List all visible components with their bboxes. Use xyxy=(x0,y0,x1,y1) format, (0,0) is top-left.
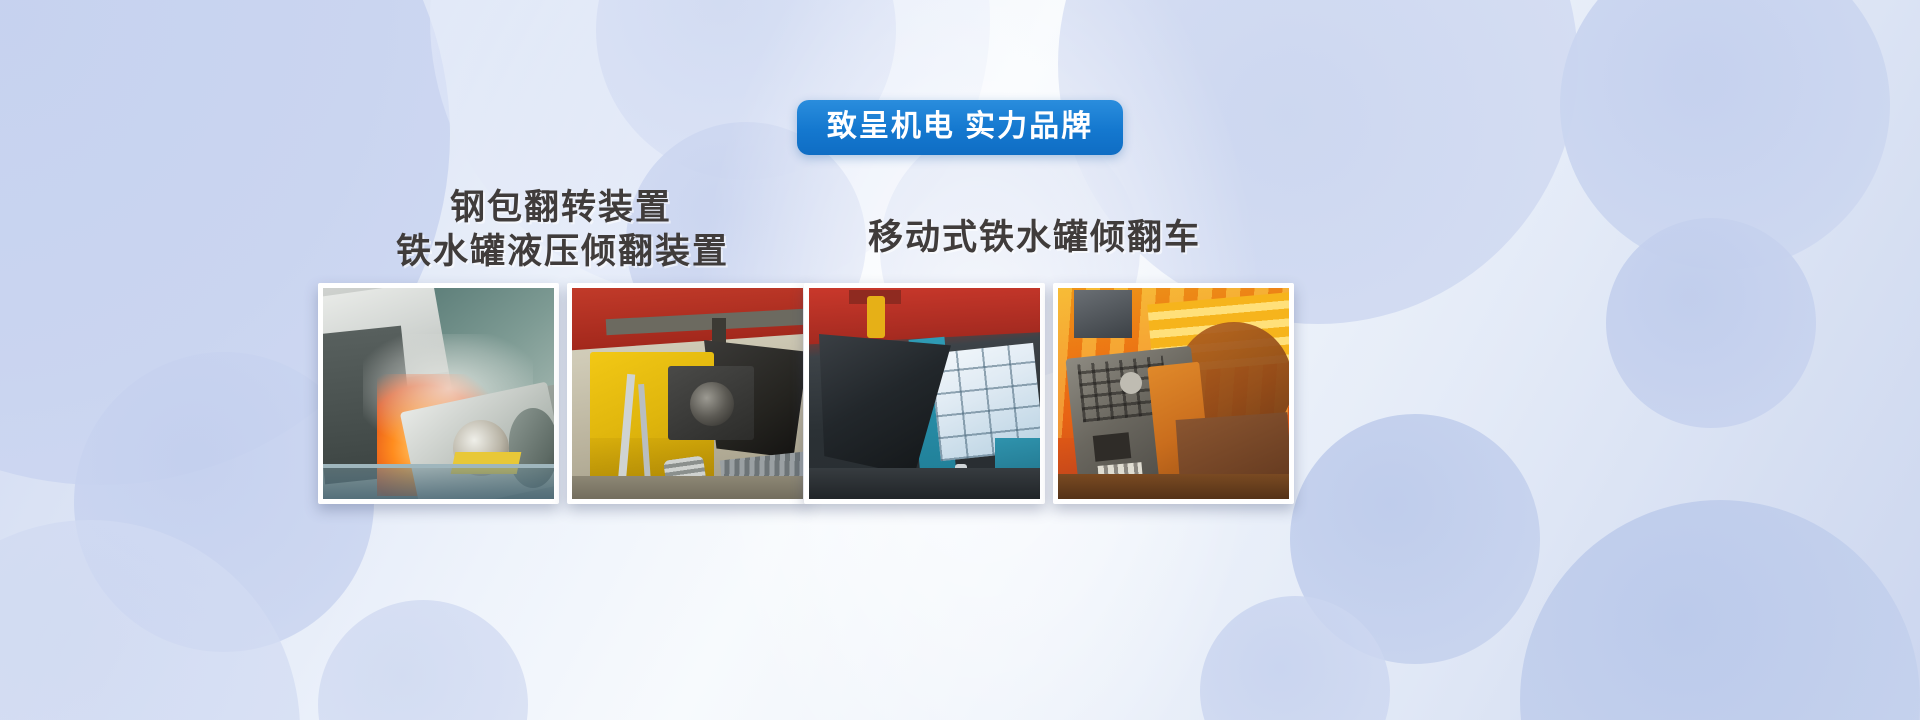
photo-content xyxy=(1058,288,1289,499)
photo-ladle-tilting-furnace[interactable] xyxy=(318,283,559,504)
photo-molten-iron-tilting-car[interactable] xyxy=(1053,283,1294,504)
product-heading-left: 钢包翻转装置 铁水罐液压倾翻装置 xyxy=(396,186,726,274)
photo-group-right xyxy=(804,283,1294,504)
product-heading-left-line1: 钢包翻转装置 xyxy=(450,188,672,227)
shape-railing xyxy=(323,468,554,499)
photo-group-left xyxy=(318,283,808,504)
banner-stage: 致呈机电 实力品牌 钢包翻转装置 铁水罐液压倾翻装置 移动式铁水罐倾翻车 xyxy=(0,0,1920,720)
decorative-circle xyxy=(1200,596,1390,720)
product-heading-left-line2: 铁水罐液压倾翻装置 xyxy=(396,230,726,274)
shape-dark-panel xyxy=(1074,290,1132,338)
photo-gallery xyxy=(0,283,1920,498)
photo-yellow-hydraulic-tilter[interactable] xyxy=(567,283,808,504)
shape-hook xyxy=(867,296,885,338)
brand-badge: 致呈机电 实力品牌 xyxy=(797,100,1123,155)
decorative-circle xyxy=(318,600,528,720)
photo-content xyxy=(572,288,803,499)
photo-content xyxy=(323,288,554,499)
decorative-circle xyxy=(1058,0,1578,324)
decorative-circle xyxy=(1520,500,1920,720)
badge-container: 致呈机电 实力品牌 xyxy=(0,100,1920,155)
decorative-circle xyxy=(0,520,300,720)
shape-flywheel xyxy=(690,382,734,426)
shape-deck xyxy=(809,468,1040,499)
photo-content xyxy=(809,288,1040,499)
headings-row: 钢包翻转装置 铁水罐液压倾翻装置 移动式铁水罐倾翻车 xyxy=(0,186,1920,266)
photo-dark-ladle-crane[interactable] xyxy=(804,283,1045,504)
shape-hub xyxy=(1120,372,1142,394)
product-heading-right: 移动式铁水罐倾翻车 xyxy=(868,216,1201,260)
shape-floor xyxy=(1058,474,1289,499)
shape-black-panel xyxy=(1093,432,1132,462)
product-heading-right-line1: 移动式铁水罐倾翻车 xyxy=(868,218,1201,257)
shape-floor xyxy=(572,476,803,499)
